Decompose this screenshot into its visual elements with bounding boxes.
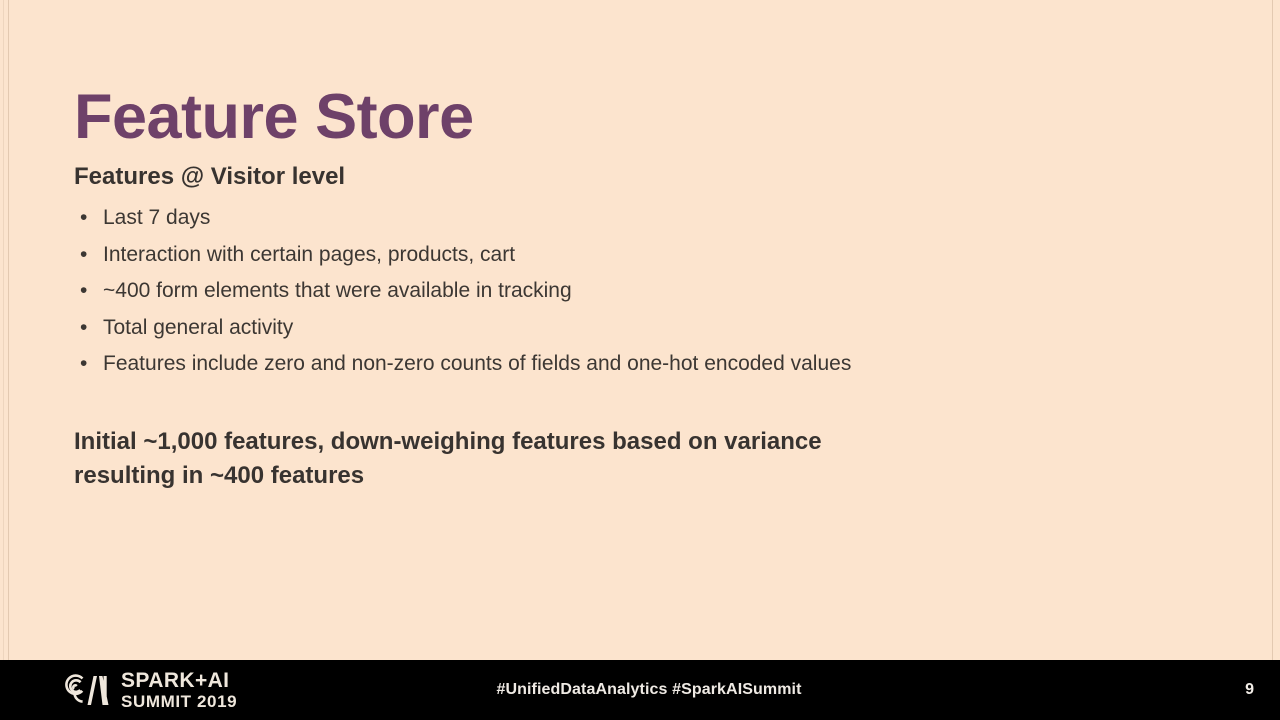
list-item-label: ~400 form elements that were available i… — [103, 279, 572, 302]
slide-right-edge-rule — [1272, 0, 1273, 660]
footer-hashtags: #UnifiedDataAnalytics #SparkAISummit — [0, 660, 1280, 720]
presentation-slide: Feature Store Features @ Visitor level •… — [0, 0, 1280, 720]
list-item: • ~400 form elements that were available… — [74, 273, 1204, 310]
slide-body: Features @ Visitor level • Last 7 days •… — [74, 162, 1204, 493]
list-item: • Last 7 days — [74, 200, 1204, 237]
slide-title: Feature Store — [74, 86, 474, 149]
list-item: • Features include zero and non-zero cou… — [74, 346, 1204, 383]
list-item-label: Last 7 days — [103, 206, 210, 229]
list-item-label: Total general activity — [103, 316, 293, 339]
list-item: • Interaction with certain pages, produc… — [74, 237, 1204, 274]
bullet-marker-icon: • — [80, 346, 87, 383]
slide-footer: SPARK+AI SUMMIT 2019 #UnifiedDataAnalyti… — [0, 660, 1280, 720]
bullet-marker-icon: • — [80, 237, 87, 274]
conclusion-line-2: resulting in ~400 features — [74, 459, 1014, 493]
bullet-marker-icon: • — [80, 273, 87, 310]
slide-left-edge-rule-outer — [3, 0, 4, 660]
conclusion-line-1: Initial ~1,000 features, down-weighing f… — [74, 425, 1014, 459]
bullet-marker-icon: • — [80, 200, 87, 237]
section-heading: Features @ Visitor level — [74, 162, 1204, 192]
list-item-label: Interaction with certain pages, products… — [103, 243, 515, 266]
conclusion-text: Initial ~1,000 features, down-weighing f… — [74, 425, 1014, 493]
slide-left-edge-rule — [8, 0, 9, 660]
page-number: 9 — [1245, 660, 1254, 720]
list-item: • Total general activity — [74, 310, 1204, 347]
bullet-list: • Last 7 days • Interaction with certain… — [74, 200, 1204, 383]
bullet-marker-icon: • — [80, 310, 87, 347]
list-item-label: Features include zero and non-zero count… — [103, 352, 851, 375]
